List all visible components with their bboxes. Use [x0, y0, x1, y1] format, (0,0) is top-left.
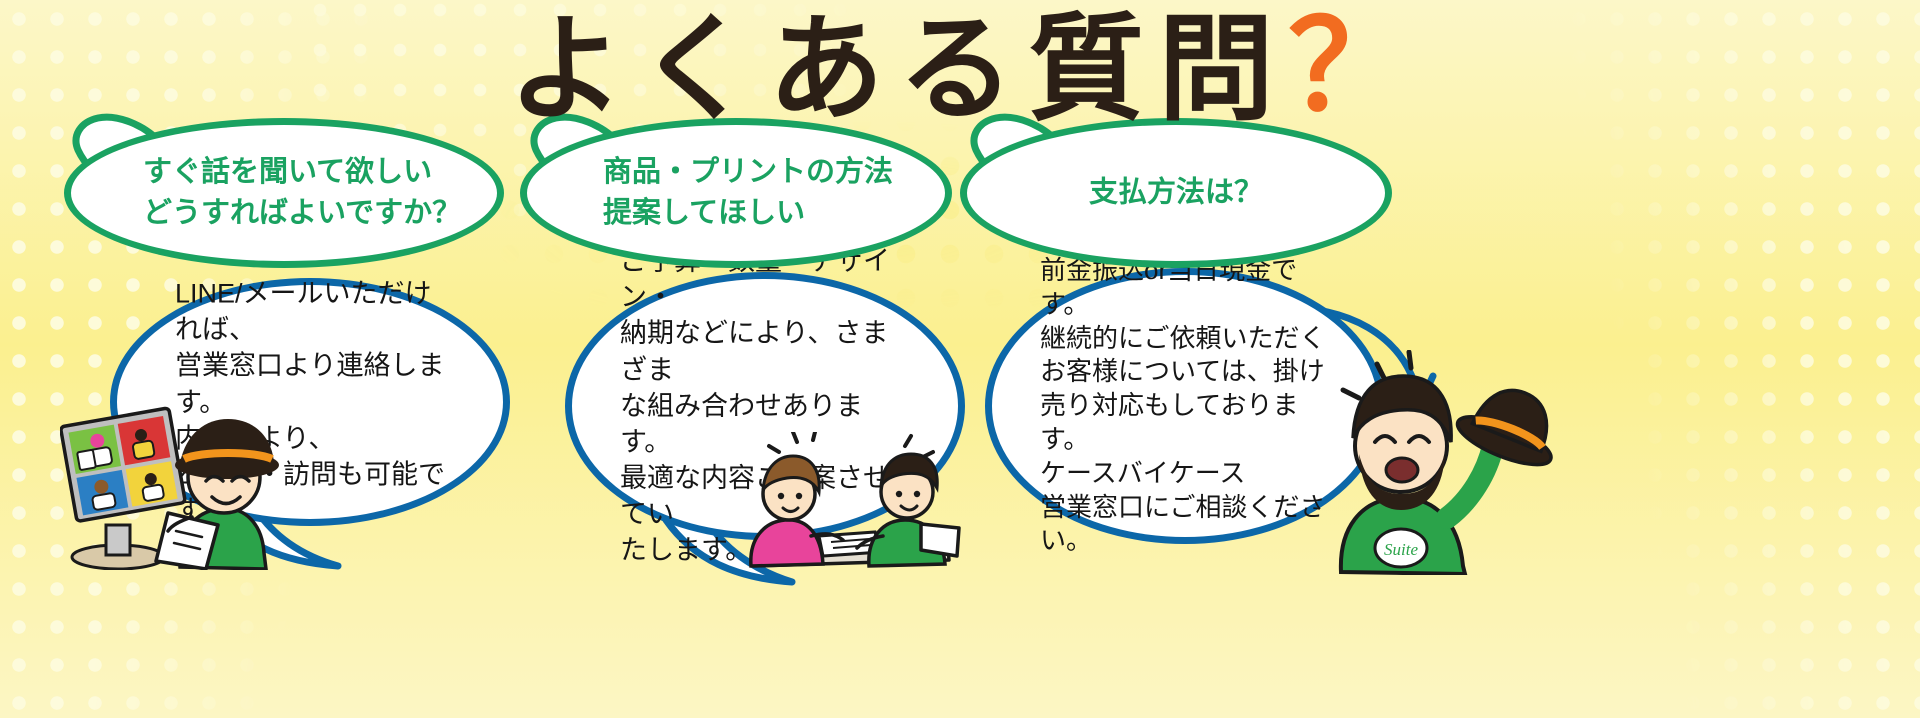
question-bubble-1: すぐ話を聞いて欲しい どうすればよいですか？ [64, 118, 504, 268]
question-text-2: 商品・プリントの方法 提案してほしい [527, 152, 945, 234]
question-text-1: すぐ話を聞いて欲しい どうすればよいですか？ [71, 152, 497, 234]
illustration-person-with-monitor [60, 385, 310, 570]
question-mark-icon: ？ [1288, 0, 1412, 136]
page-title-text: よくある質問 [508, 4, 1288, 134]
question-bubble-2: 商品・プリントの方法 提案してほしい [520, 118, 952, 268]
page-title: よくある質問？ [0, 2, 1920, 133]
illustration-two-people-at-desk [735, 432, 965, 572]
illustration-man-waving-hat: Suite [1315, 350, 1565, 575]
faq-banner: よくある質問？ すぐ話を聞いて欲しい どうすればよいですか？ 商品・プリントの方… [0, 0, 1920, 718]
question-text-3: 支払方法は？ [967, 172, 1385, 213]
svg-text:Suite: Suite [1384, 540, 1418, 559]
question-bubble-3: 支払方法は？ [960, 118, 1392, 268]
